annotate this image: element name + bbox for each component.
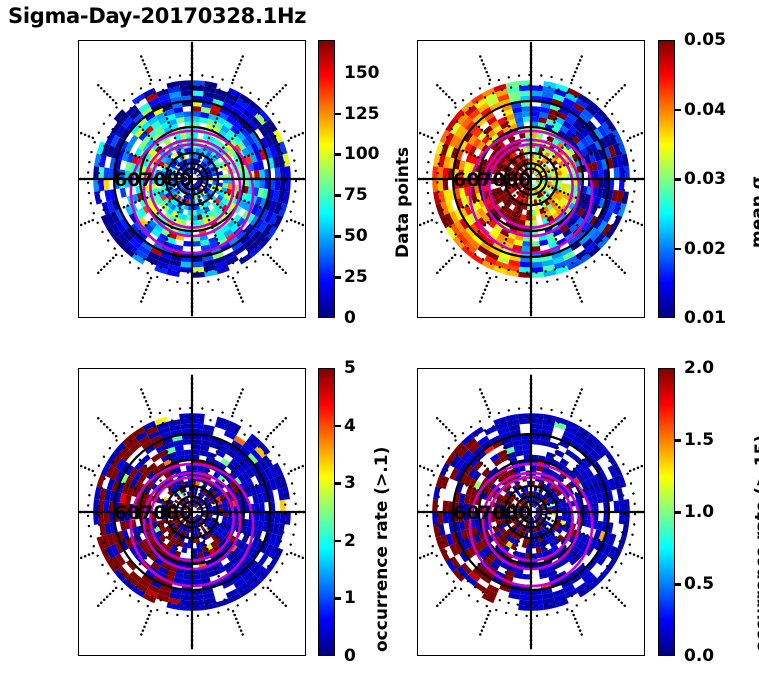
colorbar-tick-label: 1.5: [684, 432, 714, 449]
svg-text:70: 70: [140, 502, 166, 524]
colorbar-tick-label: 1.0: [684, 504, 714, 521]
svg-text:80: 80: [505, 502, 531, 524]
svg-text:60: 60: [453, 502, 479, 524]
colorbar-occurrence-rate-01: [318, 368, 335, 656]
figure-canvas: Sigma-Day-20170328.1Hz 607080 0255075100…: [0, 0, 759, 674]
colorbar-tick-label: 100: [344, 146, 380, 163]
colorbar-tick-mark: [335, 425, 341, 428]
panel-occurrence-rate-01: 607080: [78, 368, 306, 656]
colorbar-tick-mark: [335, 153, 341, 156]
colorbar-tick-label: 0.5: [684, 576, 714, 593]
colorbar-tick-label: 0.0: [684, 648, 714, 665]
colorbar-tick-mark: [335, 597, 341, 600]
colorbar-tick-mark: [335, 113, 341, 116]
colorbar-tick-label: 3: [344, 475, 356, 492]
colorbar-title-data-points: Data points: [393, 147, 413, 258]
colorbar-tick-label: 2.0: [684, 360, 714, 377]
colorbar-tick-label: 0.01: [684, 310, 726, 327]
colorbar-tick-label: 0: [344, 310, 356, 327]
colorbar-tick-label: 0.02: [684, 241, 726, 258]
colorbar-tick-label: 0.05: [684, 32, 726, 49]
colorbar-occurrence-rate-015: [658, 368, 675, 656]
colorbar-tick-label: 0: [344, 648, 356, 665]
colorbar-title-mean-sigma-phi: mean σφ: [748, 167, 759, 248]
svg-text:70: 70: [140, 169, 166, 191]
colorbar-ticks-data-points: 0255075100125150: [335, 40, 395, 318]
colorbar-tick-mark: [675, 109, 681, 112]
colorbar-tick-mark: [335, 235, 341, 238]
colorbar-title-text: mean σ: [748, 176, 759, 248]
colorbar-tick-label: 5: [344, 360, 356, 377]
panel-occurrence-rate-015: 607080: [417, 368, 645, 656]
polar-plot-occurrence-rate-01: 607080: [78, 368, 306, 656]
colorbar-ticks-occurrence-rate-01: 012345: [335, 368, 375, 656]
colorbar-tick-label: 2: [344, 533, 356, 550]
colorbar-tick-label: 50: [344, 228, 368, 245]
svg-text:70: 70: [479, 169, 505, 191]
colorbar-tick-mark: [335, 540, 341, 543]
colorbar-ticks-occurrence-rate-015: 0.00.51.01.52.0: [675, 368, 735, 656]
colorbar-tick-label: 25: [344, 269, 368, 286]
colorbar-mean-sigma-phi: [658, 40, 675, 318]
svg-text:60: 60: [114, 502, 140, 524]
polar-plot-mean-sigma-phi: 607080: [417, 40, 645, 318]
svg-text:60: 60: [453, 169, 479, 191]
colorbar-data-points: [318, 40, 335, 318]
colorbar-tick-mark: [675, 511, 681, 514]
colorbar-tick-mark: [335, 194, 341, 197]
page-title: Sigma-Day-20170328.1Hz: [8, 4, 306, 28]
colorbar-tick-mark: [675, 439, 681, 442]
svg-text:60: 60: [114, 169, 140, 191]
svg-text:80: 80: [505, 169, 531, 191]
svg-text:80: 80: [166, 169, 192, 191]
colorbar-tick-label: 0.03: [684, 171, 726, 188]
colorbar-tick-mark: [675, 178, 681, 181]
colorbar-tick-label: 75: [344, 187, 368, 204]
svg-text:80: 80: [166, 502, 192, 524]
colorbar-title-occurrence-rate-01: occurrence rate (>.1): [372, 447, 392, 652]
svg-text:70: 70: [479, 502, 505, 524]
colorbar-tick-label: 125: [344, 106, 380, 123]
panel-mean-sigma-phi: 607080: [417, 40, 645, 318]
colorbar-title-occurrence-rate-015: occurrence rate (>.15): [752, 435, 759, 652]
colorbar-tick-label: 1: [344, 590, 356, 607]
colorbar-tick-label: 4: [344, 418, 356, 435]
colorbar-tick-mark: [335, 276, 341, 279]
colorbar-tick-mark: [675, 248, 681, 251]
colorbar-ticks-mean-sigma-phi: 0.010.020.030.040.05: [675, 40, 745, 318]
colorbar-tick-mark: [675, 583, 681, 586]
panel-data-points: 607080: [78, 40, 306, 318]
polar-plot-occurrence-rate-015: 607080: [417, 368, 645, 656]
colorbar-tick-mark: [335, 482, 341, 485]
polar-plot-data-points: 607080: [78, 40, 306, 318]
colorbar-tick-label: 0.04: [684, 102, 726, 119]
colorbar-tick-label: 150: [344, 65, 380, 82]
